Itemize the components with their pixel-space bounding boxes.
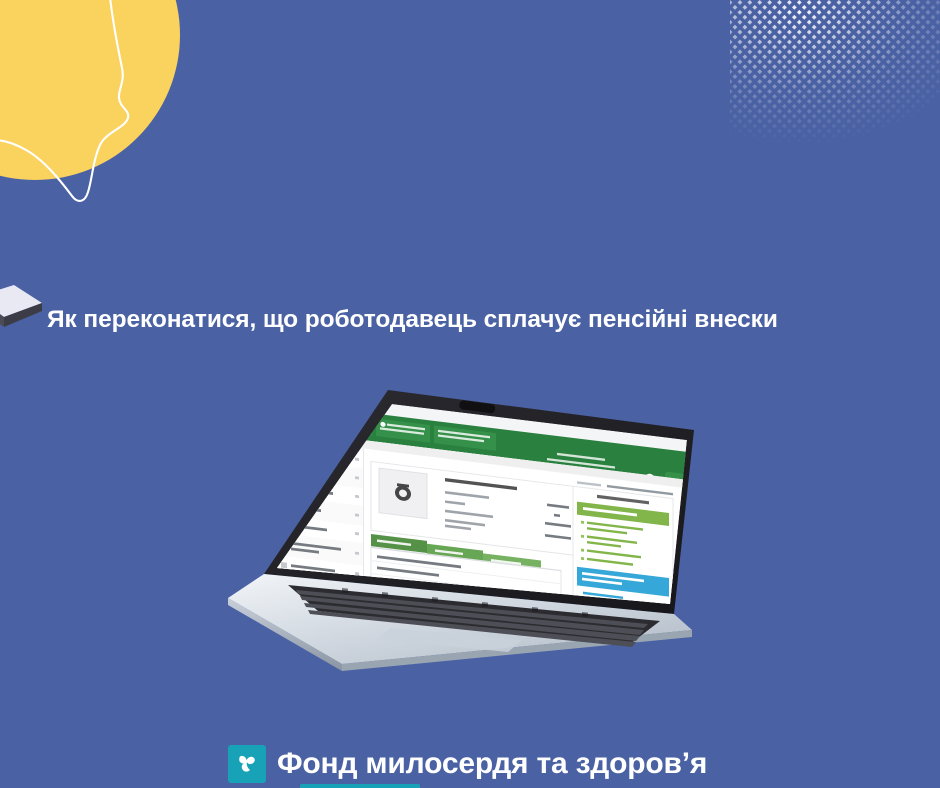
page-title: Як переконатися, що роботодавець сплачує… xyxy=(47,305,909,334)
laptop-illustration xyxy=(222,382,700,682)
brand-name: Фонд милосердя та здоров’я xyxy=(277,747,707,781)
yellow-circle-decoration xyxy=(0,0,180,180)
heart-mark-icon xyxy=(235,752,259,776)
brand-footer: Фонд милосердя та здоров’я xyxy=(228,745,707,783)
slab-decoration xyxy=(0,283,44,341)
halftone-dots-decoration xyxy=(730,0,940,145)
poster-canvas: Як переконатися, що роботодавець сплачує… xyxy=(0,0,940,788)
brand-logo xyxy=(228,745,266,783)
brand-underline-accent xyxy=(300,784,420,788)
